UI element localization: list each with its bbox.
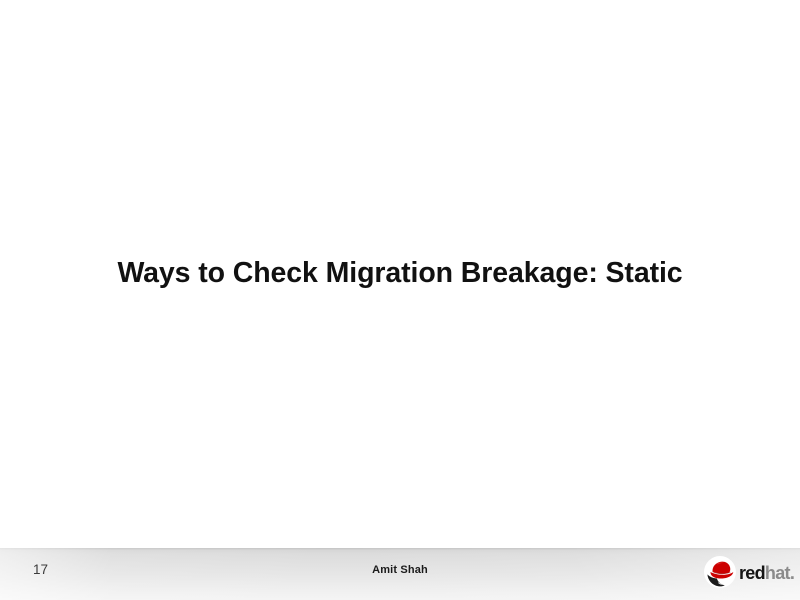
redhat-wordmark-dot: . (790, 563, 794, 583)
slide-title: Ways to Check Migration Breakage: Static (0, 258, 800, 289)
slide-body-placeholder (100, 310, 704, 530)
redhat-wordmark-red: red (739, 563, 765, 583)
redhat-logo: redhat. (703, 553, 795, 591)
slide-content-area: Ways to Check Migration Breakage: Static (0, 0, 800, 548)
footer-author-name: Amit Shah (0, 565, 800, 576)
redhat-wordmark: redhat. (739, 564, 794, 582)
redhat-wordmark-hat: hat (765, 563, 790, 583)
presentation-slide: Ways to Check Migration Breakage: Static… (0, 0, 800, 600)
redhat-shadowman-icon (703, 555, 737, 589)
